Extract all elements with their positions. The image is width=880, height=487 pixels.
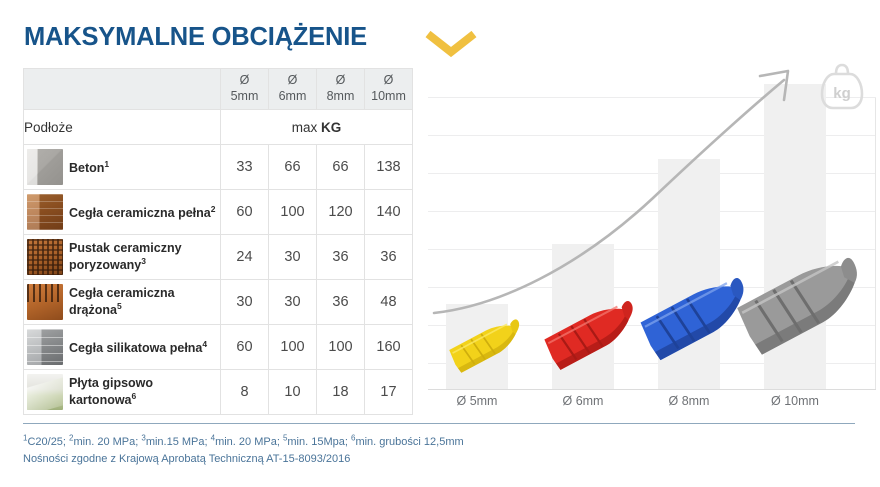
footnote-line1: 1C20/25; 2min. 20 MPa; 3min.15 MPa; 4min… bbox=[23, 436, 464, 448]
value-8mm: 36 bbox=[317, 280, 365, 325]
value-10mm: 36 bbox=[365, 235, 413, 280]
table-row: Pustak ceramiczny poryzowany3 24 30 36 3… bbox=[24, 235, 413, 280]
material-name: Płyta gipsowo kartonowa6 bbox=[69, 376, 220, 408]
value-5mm: 24 bbox=[221, 235, 269, 280]
table-row: Płyta gipsowo kartonowa6 8 10 18 17 bbox=[24, 370, 413, 415]
material-note-ref: 5 bbox=[117, 301, 122, 311]
footnote-text: C20/25; bbox=[27, 436, 69, 448]
footnote-text: min. grubości 12,5mm bbox=[355, 436, 463, 448]
material-note-ref: 2 bbox=[211, 204, 216, 214]
gypsum-board-thumb bbox=[27, 374, 63, 410]
value-5mm: 60 bbox=[221, 325, 269, 370]
material-name-text: Beton bbox=[69, 161, 104, 175]
footnote-approval-line: Nośności zgodne z Krajową Aprobatą Techn… bbox=[23, 451, 863, 468]
material-name-text: Cegła silikatowa pełna bbox=[69, 341, 202, 355]
value-10mm: 138 bbox=[365, 145, 413, 190]
hollow-ceramic-brick-thumb bbox=[27, 284, 63, 320]
footer-divider bbox=[23, 423, 855, 424]
value-5mm: 33 bbox=[221, 145, 269, 190]
value-10mm: 48 bbox=[365, 280, 413, 325]
value-5mm: 30 bbox=[221, 280, 269, 325]
material-name: Cegła ceramiczna pełna2 bbox=[69, 204, 219, 221]
material-name: Cegła silikatowa pełna4 bbox=[69, 339, 211, 356]
value-6mm: 30 bbox=[269, 280, 317, 325]
table-body: Beton1 33 66 66 138 Cegła ceramiczna peł… bbox=[24, 145, 413, 415]
value-6mm: 30 bbox=[269, 235, 317, 280]
diameter-value: 8mm bbox=[317, 89, 364, 105]
table-row: Cegła ceramiczna drążona5 30 30 36 48 bbox=[24, 280, 413, 325]
chart-bar-10mm bbox=[764, 84, 826, 389]
material-note-ref: 6 bbox=[132, 391, 137, 401]
material-name: Pustak ceramiczny poryzowany3 bbox=[69, 241, 220, 273]
load-growth-chart: kg bbox=[428, 58, 876, 390]
table-row: Cegła silikatowa pełna4 60 100 100 160 bbox=[24, 325, 413, 370]
max-load-table: Ø 5mm Ø 6mm Ø 8mm Ø 10mm Podłoże max KG bbox=[23, 68, 413, 415]
material-name: Cegła ceramiczna drążona5 bbox=[69, 286, 220, 318]
kg-badge-text: kg bbox=[833, 85, 851, 102]
substrate-column-label: Podłoże bbox=[24, 110, 221, 145]
diameter-value: 6mm bbox=[269, 89, 316, 105]
value-8mm: 66 bbox=[317, 145, 365, 190]
value-6mm: 66 bbox=[269, 145, 317, 190]
header-diameter-10mm: Ø 10mm bbox=[365, 69, 413, 110]
value-6mm: 100 bbox=[269, 190, 317, 235]
header-diameter-8mm: Ø 8mm bbox=[317, 69, 365, 110]
material-name-text: Płyta gipsowo kartonowa bbox=[69, 376, 153, 407]
table-subheader-row: Podłoże max KG bbox=[24, 110, 413, 145]
chart-bar-6mm bbox=[552, 244, 614, 389]
value-10mm: 160 bbox=[365, 325, 413, 370]
chart-bar-8mm bbox=[658, 159, 720, 389]
diameter-symbol: Ø bbox=[269, 73, 316, 89]
x-label-10mm: Ø 10mm bbox=[750, 394, 840, 408]
diameter-symbol: Ø bbox=[365, 73, 412, 89]
header-diameter-6mm: Ø 6mm bbox=[269, 69, 317, 110]
chart-x-axis-labels: Ø 5mm Ø 6mm Ø 8mm Ø 10mm bbox=[428, 394, 876, 414]
porous-ceramic-block-thumb bbox=[27, 239, 63, 275]
chart-plot-area: kg bbox=[428, 58, 876, 390]
material-cell: Cegła ceramiczna drążona5 bbox=[24, 280, 221, 325]
chart-bar-5mm bbox=[446, 304, 508, 389]
material-cell: Płyta gipsowo kartonowa6 bbox=[24, 370, 221, 415]
value-6mm: 10 bbox=[269, 370, 317, 415]
table-header-row: Ø 5mm Ø 6mm Ø 8mm Ø 10mm bbox=[24, 69, 413, 110]
header-blank-cell bbox=[24, 69, 221, 110]
footnote-text: min.15 MPa; bbox=[146, 436, 211, 448]
solid-ceramic-brick-thumb bbox=[27, 194, 63, 230]
material-name-text: Pustak ceramiczny poryzowany bbox=[69, 241, 182, 272]
value-8mm: 120 bbox=[317, 190, 365, 235]
material-note-ref: 1 bbox=[104, 159, 109, 169]
x-label-5mm: Ø 5mm bbox=[432, 394, 522, 408]
material-cell: Cegła ceramiczna pełna2 bbox=[24, 190, 221, 235]
diameter-symbol: Ø bbox=[317, 73, 364, 89]
value-10mm: 17 bbox=[365, 370, 413, 415]
page-title: MAKSYMALNE OBCIĄŻENIE bbox=[24, 23, 367, 52]
chart-baseline-axis bbox=[428, 389, 876, 390]
chart-right-axis bbox=[875, 98, 876, 390]
value-8mm: 36 bbox=[317, 235, 365, 280]
material-note-ref: 3 bbox=[141, 256, 146, 266]
x-label-8mm: Ø 8mm bbox=[644, 394, 734, 408]
concrete-thumb bbox=[27, 149, 63, 185]
diameter-symbol: Ø bbox=[221, 73, 268, 89]
value-10mm: 140 bbox=[365, 190, 413, 235]
material-name-text: Cegła ceramiczna pełna bbox=[69, 206, 211, 220]
max-kg-prefix: max bbox=[292, 120, 321, 135]
x-label-6mm: Ø 6mm bbox=[538, 394, 628, 408]
max-kg-label: max KG bbox=[221, 110, 413, 145]
footnote-text: min. 20 MPa; bbox=[74, 436, 142, 448]
footnotes: 1C20/25; 2min. 20 MPa; 3min.15 MPa; 4min… bbox=[23, 432, 863, 468]
value-6mm: 100 bbox=[269, 325, 317, 370]
material-cell: Pustak ceramiczny poryzowany3 bbox=[24, 235, 221, 280]
kg-weight-icon: kg bbox=[818, 60, 866, 112]
diameter-value: 5mm bbox=[221, 89, 268, 105]
table-row: Beton1 33 66 66 138 bbox=[24, 145, 413, 190]
material-cell: Cegła silikatowa pełna4 bbox=[24, 325, 221, 370]
table-row: Cegła ceramiczna pełna2 60 100 120 140 bbox=[24, 190, 413, 235]
footnote-text: min. 15Mpa; bbox=[287, 436, 351, 448]
value-5mm: 8 bbox=[221, 370, 269, 415]
chevron-down-icon bbox=[422, 28, 480, 58]
value-8mm: 100 bbox=[317, 325, 365, 370]
max-kg-unit: KG bbox=[321, 120, 341, 135]
material-name: Beton1 bbox=[69, 159, 113, 176]
material-note-ref: 4 bbox=[202, 339, 207, 349]
silicate-brick-thumb bbox=[27, 329, 63, 365]
material-cell: Beton1 bbox=[24, 145, 221, 190]
footnote-text: min. 20 MPa; bbox=[215, 436, 283, 448]
diameter-value: 10mm bbox=[365, 89, 412, 105]
value-5mm: 60 bbox=[221, 190, 269, 235]
value-8mm: 18 bbox=[317, 370, 365, 415]
header-diameter-5mm: Ø 5mm bbox=[221, 69, 269, 110]
